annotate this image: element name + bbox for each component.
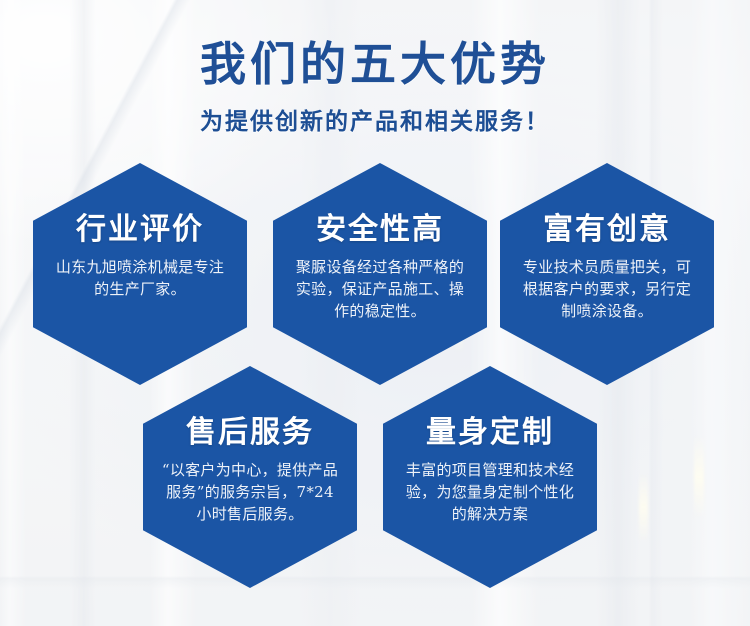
advantage-card-tailor-made[interactable]: 量身定制 丰富的项目管理和技术经验，为您量身定制个性化的解决方案	[383, 366, 597, 588]
advantages-banner: 我们的五大优势 为提供创新的产品和相关服务！ 行业评价 山东九旭喷涂机械是专注的…	[0, 0, 750, 626]
advantage-description: 丰富的项目管理和技术经验，为您量身定制个性化的解决方案	[399, 460, 581, 525]
heading-block: 我们的五大优势 为提供创新的产品和相关服务！	[0, 40, 750, 136]
advantage-card-high-safety[interactable]: 安全性高 聚脲设备经过各种严格的实验，保证产品施工、操作的稳定性。	[273, 163, 487, 385]
advantage-description: 山东九旭喷涂机械是专注的生产厂家。	[49, 257, 231, 301]
advantage-description: 专业技术员质量把关，可根据客户的要求，另行定制喷涂设备。	[516, 257, 698, 322]
advantage-card-after-sales[interactable]: 售后服务 “以客户为中心，提供产品服务”的服务宗旨，7*24小时售后服务。	[143, 366, 357, 588]
page-title: 我们的五大优势	[0, 40, 750, 90]
advantage-title: 富有创意	[543, 215, 671, 245]
advantage-title: 安全性高	[316, 215, 444, 245]
advantage-description: “以客户为中心，提供产品服务”的服务宗旨，7*24小时售后服务。	[159, 460, 341, 525]
page-subtitle: 为提供创新的产品和相关服务！	[0, 102, 750, 136]
advantage-card-industry-rating[interactable]: 行业评价 山东九旭喷涂机械是专注的生产厂家。	[33, 163, 247, 385]
advantage-title: 售后服务	[186, 418, 314, 448]
advantage-description: 聚脲设备经过各种严格的实验，保证产品施工、操作的稳定性。	[289, 257, 471, 322]
advantage-card-creative[interactable]: 富有创意 专业技术员质量把关，可根据客户的要求，另行定制喷涂设备。	[500, 163, 714, 385]
advantage-title: 行业评价	[76, 215, 204, 245]
advantage-title: 量身定制	[426, 418, 554, 448]
